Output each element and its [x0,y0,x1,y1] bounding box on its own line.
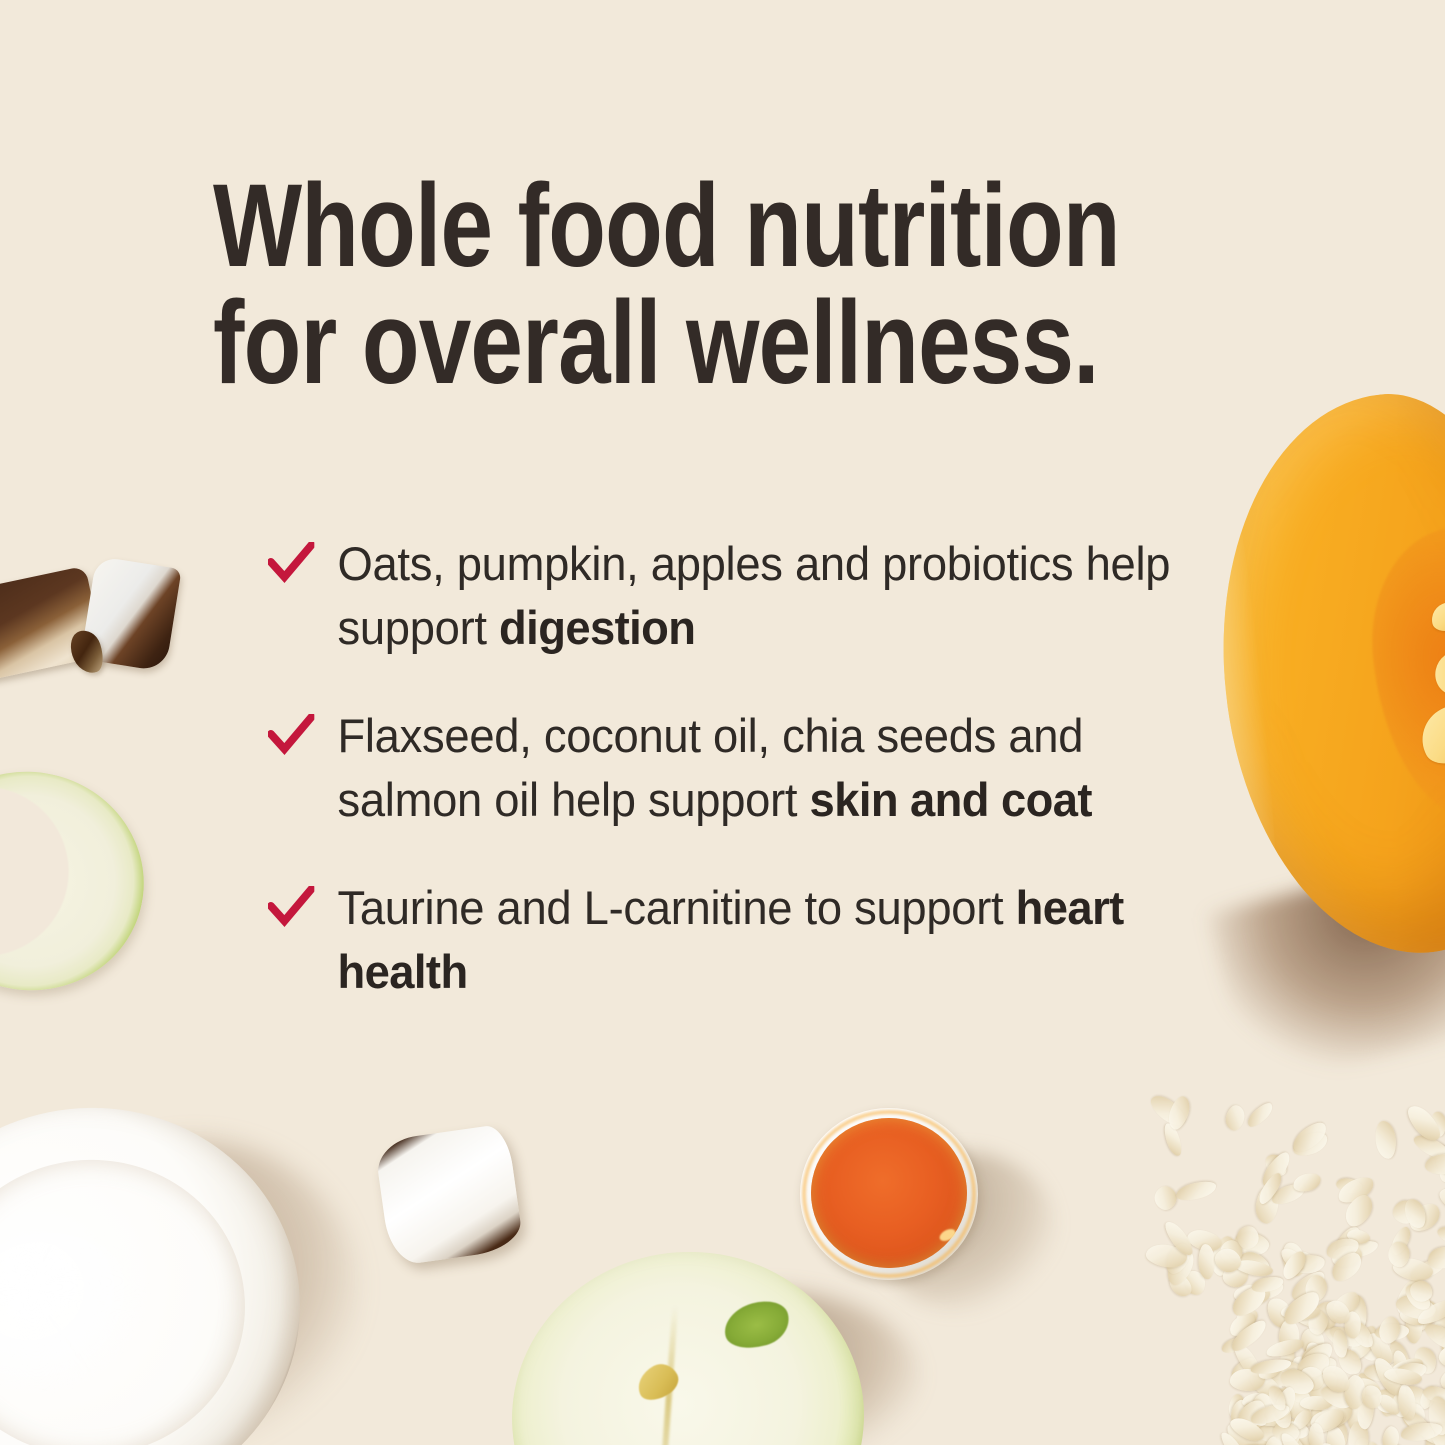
salmon-oil-bowl-image [800,1108,978,1280]
list-item: Oats, pumpkin, apples and probiotics hel… [268,532,1175,660]
pumpkin-cavity [1360,517,1445,825]
oil-rim-highlight [802,1110,976,1278]
oat-flake [1224,1103,1248,1132]
oat-flake [1425,1153,1445,1175]
oat-flake [1435,1224,1445,1248]
coconut-chunk-image [374,1123,524,1266]
headline-line-2: for overall wellness. [213,285,1061,402]
apple-seed [631,1358,683,1406]
page-title: Whole food nutrition for overall wellnes… [213,168,1061,402]
oat-flake [1245,1100,1277,1130]
headline-line-1: Whole food nutrition [213,168,1061,285]
apple-stem-well [719,1295,795,1355]
check-icon [268,886,314,928]
list-item: Taurine and L-carnitine to support heart… [268,876,1175,1004]
oats-pile-image [1135,1103,1445,1445]
apple-slice-image [0,750,164,1011]
oat-flake [1374,1120,1397,1159]
benefit-emphasis: skin and coat [810,773,1092,826]
infographic-canvas: Whole food nutrition for overall wellnes… [0,0,1445,1445]
coconut-half-image [0,1087,320,1445]
oat-flake [1175,1179,1218,1203]
benefit-text: Taurine and L-carnitine to support [337,881,1015,934]
check-icon [268,714,314,756]
benefit-emphasis: digestion [499,601,695,654]
list-item: Flaxseed, coconut oil, chia seeds and sa… [268,704,1175,832]
oat-flake [1380,1425,1401,1445]
benefits-list: Oats, pumpkin, apples and probiotics hel… [268,532,1208,1003]
check-icon [268,542,314,584]
pumpkin-half-image [1197,379,1445,970]
benefit-text: Oats, pumpkin, apples and probiotics hel… [337,537,1170,654]
apple-half-image [501,1240,875,1445]
pumpkin-rind [1197,404,1292,971]
